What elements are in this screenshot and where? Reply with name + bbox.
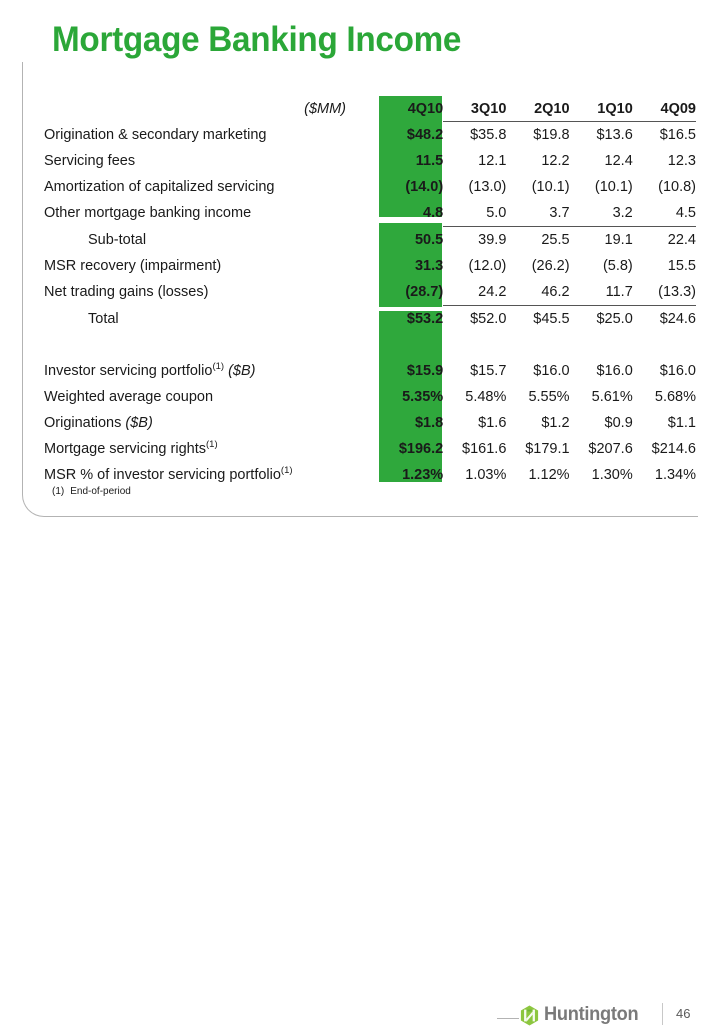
- footnote-marker: (1): [212, 361, 224, 372]
- cell-value: $15.7: [443, 358, 506, 384]
- cell-value: $24.6: [633, 306, 696, 333]
- huntington-shield-icon: [520, 1005, 539, 1026]
- cell-value: $13.6: [570, 122, 633, 149]
- cell-value: $16.0: [570, 358, 633, 384]
- col-head-1q10: 1Q10: [570, 96, 633, 122]
- row-label: Weighted average coupon: [44, 384, 380, 410]
- unit-label: ($MM): [44, 96, 380, 122]
- cell-value: $1.8: [380, 410, 443, 436]
- cell-value: $16.5: [633, 122, 696, 149]
- table-row: Weighted average coupon 5.35% 5.48% 5.55…: [44, 384, 696, 410]
- col-head-3q10: 3Q10: [443, 96, 506, 122]
- cell-value: $0.9: [570, 410, 633, 436]
- cell-value: $1.2: [506, 410, 569, 436]
- table-header-row: ($MM) 4Q10 3Q10 2Q10 1Q10 4Q09: [44, 96, 696, 122]
- cell-value: 4.5: [633, 200, 696, 227]
- cell-value: $35.8: [443, 122, 506, 149]
- cell-value: (14.0): [380, 174, 443, 200]
- row-label: Mortgage servicing rights(1): [44, 436, 380, 462]
- cell-value: $196.2: [380, 436, 443, 462]
- cell-value: $161.6: [443, 436, 506, 462]
- cell-value: 5.48%: [443, 384, 506, 410]
- row-label-text: Originations: [44, 415, 121, 431]
- page-number-separator: [662, 1003, 663, 1025]
- cell-value: (13.3): [633, 279, 696, 306]
- table-gap: [44, 332, 696, 358]
- cell-value: 12.1: [443, 148, 506, 174]
- slide-canvas: Mortgage Banking Income ($MM) 4Q10 3Q10 …: [0, 0, 720, 540]
- table-row-total: Total $53.2 $52.0 $45.5 $25.0 $24.6: [44, 306, 696, 333]
- row-label: MSR % of investor servicing portfolio(1): [44, 462, 380, 488]
- slide-footer: Huntington 46: [0, 500, 720, 540]
- financial-table-area: ($MM) 4Q10 3Q10 2Q10 1Q10 4Q09 Originati…: [44, 96, 696, 488]
- table-row: MSR recovery (impairment) 31.3 (12.0) (2…: [44, 253, 696, 279]
- cell-value: 12.4: [570, 148, 633, 174]
- cell-value: $1.1: [633, 410, 696, 436]
- table-row: Mortgage servicing rights(1) $196.2 $161…: [44, 436, 696, 462]
- brand-name: Huntington: [544, 1004, 638, 1026]
- cell-value: $1.6: [443, 410, 506, 436]
- table-row: Originations ($B) $1.8 $1.6 $1.2 $0.9 $1…: [44, 410, 696, 436]
- cell-value: 15.5: [633, 253, 696, 279]
- cell-value: 3.7: [506, 200, 569, 227]
- page-title: Mortgage Banking Income: [52, 20, 461, 60]
- cell-value: (10.8): [633, 174, 696, 200]
- cell-value: (12.0): [443, 253, 506, 279]
- cell-value: 39.9: [443, 227, 506, 254]
- cell-value: (10.1): [570, 174, 633, 200]
- cell-value: $52.0: [443, 306, 506, 333]
- cell-value: 1.12%: [506, 462, 569, 488]
- row-label: Originations ($B): [44, 410, 380, 436]
- cell-value: 5.0: [443, 200, 506, 227]
- row-label: Other mortgage banking income: [44, 200, 380, 227]
- footnote-marker: (1): [281, 465, 293, 476]
- col-head-4q09: 4Q09: [633, 96, 696, 122]
- row-label-text: MSR % of investor servicing portfolio: [44, 467, 281, 483]
- cell-value: $207.6: [570, 436, 633, 462]
- cell-value: 5.68%: [633, 384, 696, 410]
- cell-value: 1.03%: [443, 462, 506, 488]
- row-unit: ($B): [125, 415, 152, 431]
- col-head-2q10: 2Q10: [506, 96, 569, 122]
- page-number: 46: [676, 1006, 690, 1021]
- cell-value: $16.0: [633, 358, 696, 384]
- row-label: Amortization of capitalized servicing: [44, 174, 380, 200]
- row-label: Total: [44, 306, 380, 333]
- mortgage-banking-income-table: ($MM) 4Q10 3Q10 2Q10 1Q10 4Q09 Originati…: [44, 96, 696, 488]
- cell-value: (28.7): [380, 279, 443, 306]
- cell-value: 5.61%: [570, 384, 633, 410]
- cell-value: 11.5: [380, 148, 443, 174]
- col-head-4q10: 4Q10: [380, 96, 443, 122]
- cell-value: 11.7: [570, 279, 633, 306]
- cell-value: $53.2: [380, 306, 443, 333]
- cell-value: 25.5: [506, 227, 569, 254]
- cell-value: 5.35%: [380, 384, 443, 410]
- row-label-text: Mortgage servicing rights: [44, 441, 206, 457]
- cell-value: $16.0: [506, 358, 569, 384]
- cell-value: 4.8: [380, 200, 443, 227]
- cell-value: 12.3: [633, 148, 696, 174]
- cell-value: 31.3: [380, 253, 443, 279]
- footnote-text: End-of-period: [70, 486, 131, 497]
- cell-value: 12.2: [506, 148, 569, 174]
- row-label-text: Weighted average coupon: [44, 389, 213, 405]
- row-label-text: Investor servicing portfolio: [44, 363, 212, 379]
- table-row: Servicing fees 11.5 12.1 12.2 12.4 12.3: [44, 148, 696, 174]
- cell-value: $214.6: [633, 436, 696, 462]
- footnote-number: (1): [52, 486, 64, 497]
- cell-value: 22.4: [633, 227, 696, 254]
- cell-value: (5.8): [570, 253, 633, 279]
- cell-value: 50.5: [380, 227, 443, 254]
- row-label: MSR recovery (impairment): [44, 253, 380, 279]
- table-row: Other mortgage banking income 4.8 5.0 3.…: [44, 200, 696, 227]
- cell-value: (10.1): [506, 174, 569, 200]
- cell-value: $45.5: [506, 306, 569, 333]
- cell-value: 24.2: [443, 279, 506, 306]
- cell-value: $15.9: [380, 358, 443, 384]
- table-row: Origination & secondary marketing $48.2 …: [44, 122, 696, 149]
- cell-value: 1.30%: [570, 462, 633, 488]
- row-label: Servicing fees: [44, 148, 380, 174]
- table-row: MSR % of investor servicing portfolio(1)…: [44, 462, 696, 488]
- row-label: Investor servicing portfolio(1) ($B): [44, 358, 380, 384]
- cell-value: $19.8: [506, 122, 569, 149]
- cell-value: (26.2): [506, 253, 569, 279]
- row-label: Sub-total: [44, 227, 380, 254]
- cell-value: $48.2: [380, 122, 443, 149]
- table-row: Net trading gains (losses) (28.7) 24.2 4…: [44, 279, 696, 306]
- cell-value: 1.34%: [633, 462, 696, 488]
- cell-value: 1.23%: [380, 462, 443, 488]
- row-label: Net trading gains (losses): [44, 279, 380, 306]
- row-unit: ($B): [228, 363, 255, 379]
- table-row: Investor servicing portfolio(1) ($B) $15…: [44, 358, 696, 384]
- cell-value: $25.0: [570, 306, 633, 333]
- cell-value: $179.1: [506, 436, 569, 462]
- table-row-subtotal: Sub-total 50.5 39.9 25.5 19.1 22.4: [44, 227, 696, 254]
- footer-rule: [497, 1018, 519, 1019]
- row-label: Origination & secondary marketing: [44, 122, 380, 149]
- cell-value: 19.1: [570, 227, 633, 254]
- brand-logo: Huntington: [520, 1004, 642, 1026]
- cell-value: (13.0): [443, 174, 506, 200]
- cell-value: 46.2: [506, 279, 569, 306]
- cell-value: 3.2: [570, 200, 633, 227]
- table-row: Amortization of capitalized servicing (1…: [44, 174, 696, 200]
- footnote-marker: (1): [206, 439, 218, 450]
- footnote: (1)End-of-period: [52, 486, 131, 497]
- cell-value: 5.55%: [506, 384, 569, 410]
